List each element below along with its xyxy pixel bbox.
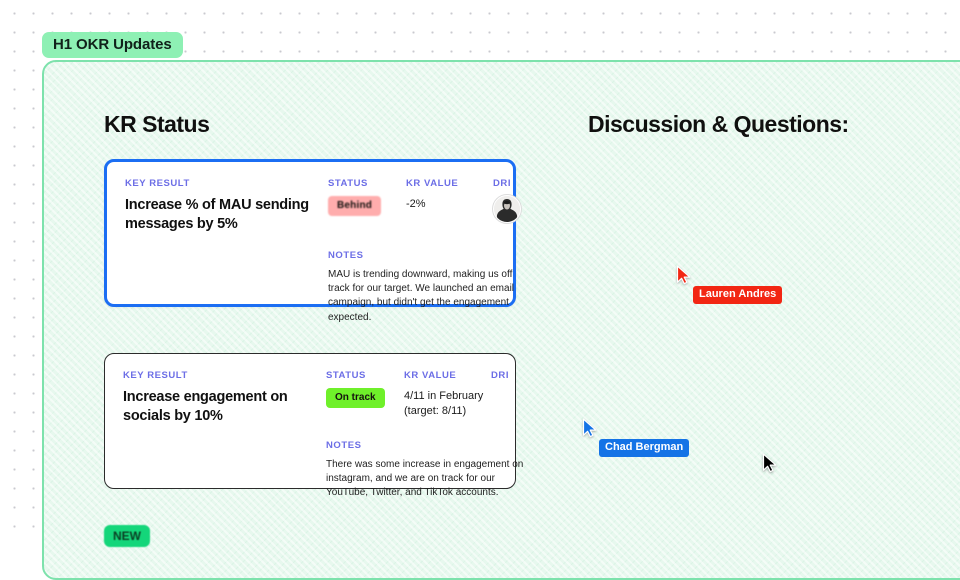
kr-value[interactable]: -2%: [406, 197, 501, 212]
label-dri: DRI: [491, 370, 531, 381]
kr-status-heading[interactable]: KR Status: [104, 111, 209, 138]
person-avatar-icon: [494, 196, 520, 222]
kr-value[interactable]: 4/11 in February (target: 8/11): [404, 389, 499, 419]
kr-status-column: STATUS On track: [326, 370, 398, 408]
label-key-result: KEY RESULT: [125, 178, 320, 189]
label-dri: DRI: [493, 178, 533, 189]
label-kr-value: KR VALUE: [404, 370, 499, 381]
kr-dri-column: DRI: [491, 370, 531, 381]
kr-value-line-1: 4/11 in February: [404, 389, 499, 404]
discussion-questions-heading[interactable]: Discussion & Questions:: [588, 111, 849, 138]
status-badge[interactable]: On track: [326, 388, 385, 408]
kr-value-column: KR VALUE 4/11 in February (target: 8/11): [404, 370, 499, 419]
label-notes: NOTES: [328, 250, 528, 261]
kr-value-column: KR VALUE -2%: [406, 178, 501, 212]
kr-title[interactable]: Increase % of MAU sending messages by 5%: [125, 196, 315, 234]
kr-dri-column: DRI: [493, 178, 533, 223]
bottom-section-badge[interactable]: NEW: [104, 525, 150, 547]
kr-card-grid: KEY RESULT Increase % of MAU sending mes…: [125, 178, 495, 290]
kr-card-selected[interactable]: KEY RESULT Increase % of MAU sending mes…: [104, 159, 516, 307]
kr-notes[interactable]: There was some increase in engagement on…: [326, 458, 526, 501]
kr-status-column: STATUS Behind: [328, 178, 400, 216]
kr-key-result-column: KEY RESULT Increase % of MAU sending mes…: [125, 178, 320, 234]
kr-notes[interactable]: MAU is trending downward, making us off …: [328, 268, 528, 325]
kr-notes-block: NOTES MAU is trending downward, making u…: [328, 250, 528, 325]
label-notes: NOTES: [326, 440, 526, 451]
label-status: STATUS: [328, 178, 400, 189]
kr-title[interactable]: Increase engagement on socials by 10%: [123, 388, 313, 426]
kr-value-line-2: (target: 8/11): [404, 404, 499, 419]
kr-card-grid: KEY RESULT Increase engagement on social…: [123, 370, 497, 474]
frame-title-pill[interactable]: H1 OKR Updates: [42, 32, 183, 58]
kr-key-result-column: KEY RESULT Increase engagement on social…: [123, 370, 318, 426]
label-status: STATUS: [326, 370, 398, 381]
kr-card[interactable]: KEY RESULT Increase engagement on social…: [104, 353, 516, 489]
avatar[interactable]: [493, 195, 521, 223]
label-kr-value: KR VALUE: [406, 178, 501, 189]
kr-notes-block: NOTES There was some increase in engagem…: [326, 440, 526, 501]
label-key-result: KEY RESULT: [123, 370, 318, 381]
status-badge[interactable]: Behind: [328, 196, 381, 216]
